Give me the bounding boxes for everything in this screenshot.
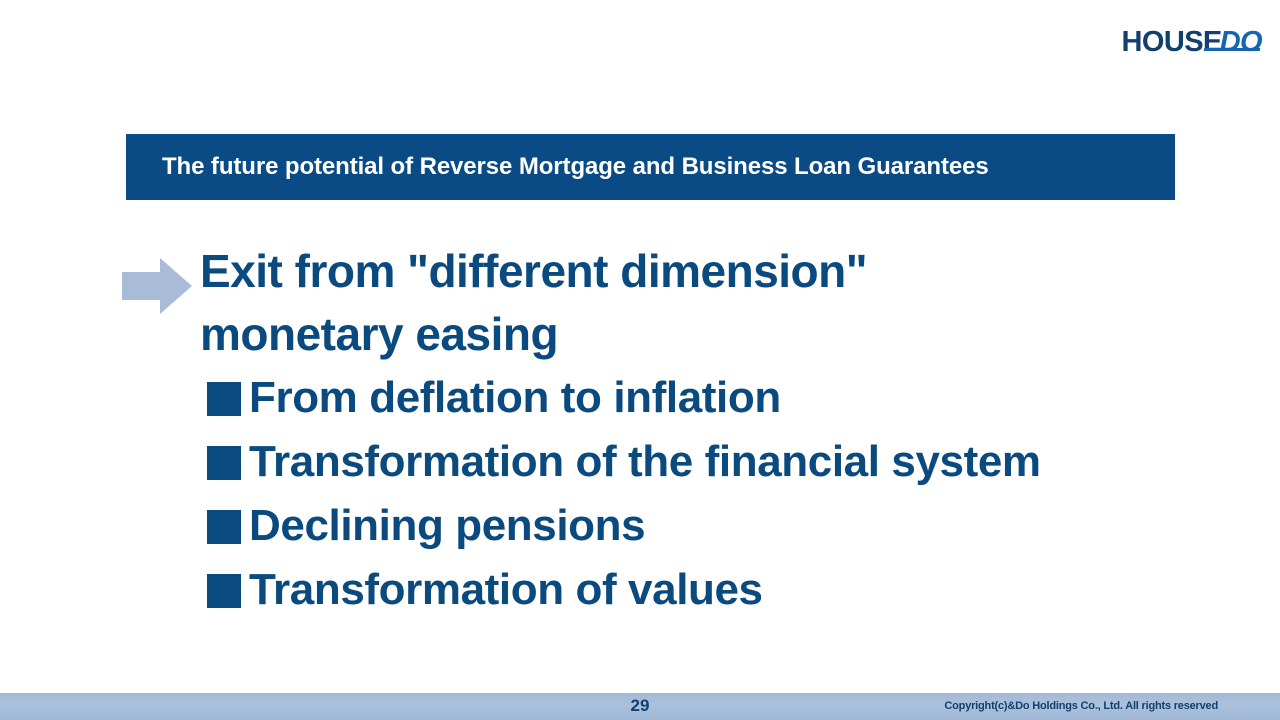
square-bullet-icon xyxy=(207,510,241,544)
square-bullet-icon xyxy=(207,382,241,416)
slide: HOUSE DO The future potential of Reverse… xyxy=(0,0,1280,720)
list-item: Declining pensions xyxy=(207,494,1280,558)
bullet-list: From deflation to inflation Transformati… xyxy=(0,366,1280,622)
square-bullet-icon xyxy=(207,446,241,480)
copyright-notice: Copyright(c)&Do Holdings Co., Ltd. All r… xyxy=(944,700,1218,712)
list-item-label: From deflation to inflation xyxy=(249,376,781,420)
page-title: The future potential of Reverse Mortgage… xyxy=(126,153,989,181)
list-item: Transformation of values xyxy=(207,558,1280,622)
logo-house-text: HOUSE xyxy=(1122,28,1222,57)
slide-content: Exit from "different dimension" monetary… xyxy=(0,240,1280,622)
headline-row: Exit from "different dimension" monetary… xyxy=(0,240,1280,366)
logo-do-group: DO xyxy=(1220,28,1262,57)
square-bullet-icon xyxy=(207,574,241,608)
slide-footer: 29 Copyright(c)&Do Holdings Co., Ltd. Al… xyxy=(0,693,1280,720)
list-item: From deflation to inflation xyxy=(207,366,1280,430)
headline-text: Exit from "different dimension" monetary… xyxy=(200,240,1280,366)
list-item-label: Transformation of the financial system xyxy=(249,440,1041,484)
logo-do-text: DO xyxy=(1220,26,1262,58)
list-item: Transformation of the financial system xyxy=(207,430,1280,494)
house-do-logo: HOUSE DO xyxy=(1122,28,1262,57)
list-item-label: Declining pensions xyxy=(249,504,645,548)
slide-title-bar: The future potential of Reverse Mortgage… xyxy=(126,134,1175,200)
right-arrow-icon xyxy=(122,258,192,314)
list-item-label: Transformation of values xyxy=(249,568,763,612)
logo-underline-stroke xyxy=(1203,48,1260,51)
